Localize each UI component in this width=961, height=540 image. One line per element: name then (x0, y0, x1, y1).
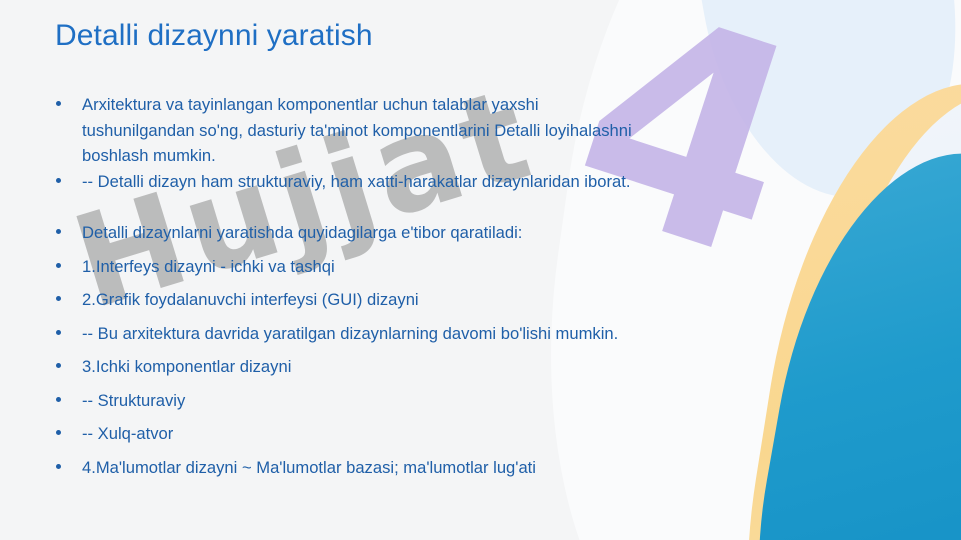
bullet-dot-icon (56, 178, 61, 183)
list-item: 3.Ichki komponentlar dizayni (50, 354, 880, 380)
bullet-line: -- Strukturaviy (82, 388, 880, 414)
bullet-dot-icon (56, 229, 61, 234)
list-item: 2.Grafik foydalanuvchi interfeysi (GUI) … (50, 287, 880, 313)
list-item: -- Strukturaviy (50, 388, 880, 414)
bullet-line: 3.Ichki komponentlar dizayni (82, 354, 880, 380)
bullet-dot-icon (56, 296, 61, 301)
list-item: 1.Interfeys dizayni - ichki va tashqi (50, 254, 880, 280)
page-title: Detalli dizaynni yaratish (55, 19, 373, 53)
list-item: Detalli dizaynlarni yaratishda quyidagil… (50, 220, 880, 246)
list-item: 4.Ma'lumotlar dizayni ~ Ma'lumotlar baza… (50, 455, 880, 481)
bullet-dot-icon (56, 430, 61, 435)
bullet-line: -- Xulq-atvor (82, 421, 880, 447)
list-item: -- Detalli dizayn ham strukturaviy, ham … (50, 169, 880, 195)
bullet-line: Detalli dizaynlarni yaratishda quyidagil… (82, 220, 880, 246)
list-item: -- Bu arxitektura davrida yaratilgan diz… (50, 321, 880, 347)
bullet-list: Arxitektura va tayinlangan komponentlar … (50, 92, 880, 480)
bullet-dot-icon (56, 397, 61, 402)
bullet-line: 1.Interfeys dizayni - ichki va tashqi (82, 254, 880, 280)
bullet-dot-icon (56, 263, 61, 268)
bullet-dot-icon (56, 363, 61, 368)
bullet-dot-icon (56, 330, 61, 335)
bullet-line: 2.Grafik foydalanuvchi interfeysi (GUI) … (82, 287, 880, 313)
list-item: -- Xulq-atvor (50, 421, 880, 447)
bullet-line: -- Detalli dizayn ham strukturaviy, ham … (82, 169, 880, 195)
bullet-line: 4.Ma'lumotlar dizayni ~ Ma'lumotlar baza… (82, 455, 880, 481)
bullet-dot-icon (56, 101, 61, 106)
list-item: Arxitektura va tayinlangan komponentlar … (50, 92, 880, 169)
bullet-line: Arxitektura va tayinlangan komponentlar … (82, 92, 880, 118)
presentation-slide: 4 Hujjat Detalli dizaynni yaratish Arxit… (0, 0, 961, 540)
bullet-line: boshlash mumkin. (82, 143, 880, 169)
bullet-line: -- Bu arxitektura davrida yaratilgan diz… (82, 321, 880, 347)
bullet-line: tushunilgandan so'ng, dasturiy ta'minot … (82, 118, 880, 144)
bullet-dot-icon (56, 464, 61, 469)
